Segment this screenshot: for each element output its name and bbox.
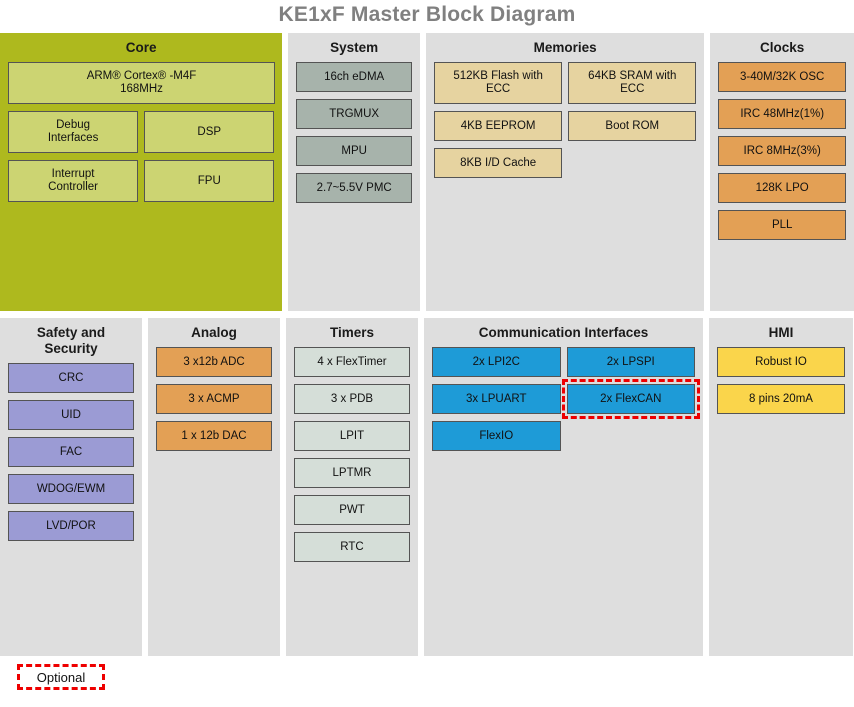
block-2x-flexcan[interactable]: 2x FlexCAN [567,384,696,414]
diagram-row-bottom: Safety and SecurityCRCUIDFACWDOG/EWMLVD/… [0,318,854,656]
panel-clocks: Clocks3-40M/32K OSCIRC 48MHz(1%)IRC 8MHz… [710,33,854,311]
panel-column: 3 x12b ADC3 x ACMP1 x 12b DAC [156,347,272,648]
panel-column: 3-40M/32K OSCIRC 48MHz(1%)IRC 8MHz(3%)12… [718,62,846,303]
diagram-row-top: CoreARM® Cortex® -M4F 168MHzDebug Interf… [0,33,854,311]
optional-block-wrapper: 2x FlexCAN [567,384,696,414]
block-arm-cortex-m4f-168mhz[interactable]: ARM® Cortex® -M4F 168MHz [8,62,275,104]
block-pwt[interactable]: PWT [294,495,410,525]
panel-title-timers: Timers [286,318,418,347]
block-irc-8mhz-3[interactable]: IRC 8MHz(3%) [718,136,846,166]
block-64kb-sram-with-ecc[interactable]: 64KB SRAM with ECC [568,62,696,104]
block-3x-lpuart[interactable]: 3x LPUART [432,384,561,414]
panel-body-memories: 512KB Flash with ECC4KB EEPROM8KB I/D Ca… [426,62,704,311]
panel-column: 2x LPI2C3x LPUARTFlexIO [432,347,561,648]
block-dsp[interactable]: DSP [144,111,274,153]
block-4kb-eeprom[interactable]: 4KB EEPROM [434,111,562,141]
panel-analog: Analog3 x12b ADC3 x ACMP1 x 12b DAC [148,318,280,656]
panel-body-system: 16ch eDMATRGMUXMPU2.7~5.5V PMC [288,62,420,311]
panel-body-communication-interfaces: 2x LPI2C3x LPUARTFlexIO2x LPSPI2x FlexCA… [424,347,703,656]
panel-body-core: Debug InterfacesInterrupt ControllerDSPF… [0,111,282,311]
block-uid[interactable]: UID [8,400,134,430]
panel-title-clocks: Clocks [710,33,854,62]
block-8-pins-20ma[interactable]: 8 pins 20mA [717,384,845,414]
panel-memories: Memories512KB Flash with ECC4KB EEPROM8K… [426,33,704,311]
panel-safety-and-security: Safety and SecurityCRCUIDFACWDOG/EWMLVD/… [0,318,142,656]
block-1-x-12b-dac[interactable]: 1 x 12b DAC [156,421,272,451]
panel-communication-interfaces: Communication Interfaces2x LPI2C3x LPUAR… [424,318,703,656]
panel-body-timers: 4 x FlexTimer3 x PDBLPITLPTMRPWTRTC [286,347,418,656]
block-boot-rom[interactable]: Boot ROM [568,111,696,141]
block-4-x-flextimer[interactable]: 4 x FlexTimer [294,347,410,377]
panel-column: 16ch eDMATRGMUXMPU2.7~5.5V PMC [296,62,412,303]
legend-optional: Optional [17,664,105,690]
panel-column: 512KB Flash with ECC4KB EEPROM8KB I/D Ca… [434,62,562,303]
panel-body-clocks: 3-40M/32K OSCIRC 48MHz(1%)IRC 8MHz(3%)12… [710,62,854,311]
block-fac[interactable]: FAC [8,437,134,467]
panel-column: CRCUIDFACWDOG/EWMLVD/POR [8,363,134,648]
panel-column: DSPFPU [144,111,274,303]
block-crc[interactable]: CRC [8,363,134,393]
panel-title-hmi: HMI [709,318,853,347]
block-span-holder: ARM® Cortex® -M4F 168MHz [0,62,282,104]
panel-core: CoreARM® Cortex® -M4F 168MHzDebug Interf… [0,33,282,311]
block-pll[interactable]: PLL [718,210,846,240]
panel-title-system: System [288,33,420,62]
panel-hmi: HMIRobust IO8 pins 20mA [709,318,853,656]
block-fpu[interactable]: FPU [144,160,274,202]
panel-column: Robust IO8 pins 20mA [717,347,845,648]
block-2x-lpspi[interactable]: 2x LPSPI [567,347,696,377]
panel-body-hmi: Robust IO8 pins 20mA [709,347,853,656]
legend-label: Optional [37,670,85,685]
block-flexio[interactable]: FlexIO [432,421,561,451]
page-title: KE1xF Master Block Diagram [0,0,854,30]
panel-timers: Timers4 x FlexTimer3 x PDBLPITLPTMRPWTRT… [286,318,418,656]
panel-column: 2x LPSPI2x FlexCAN [567,347,696,648]
panel-body-safety-and-security: CRCUIDFACWDOG/EWMLVD/POR [0,363,142,656]
block-2-7-5-5v-pmc[interactable]: 2.7~5.5V PMC [296,173,412,203]
block-3-40m-32k-osc[interactable]: 3-40M/32K OSC [718,62,846,92]
block-16ch-edma[interactable]: 16ch eDMA [296,62,412,92]
block-debug-interfaces[interactable]: Debug Interfaces [8,111,138,153]
block-512kb-flash-with-ecc[interactable]: 512KB Flash with ECC [434,62,562,104]
panel-body-analog: 3 x12b ADC3 x ACMP1 x 12b DAC [148,347,280,656]
block-wdog-ewm[interactable]: WDOG/EWM [8,474,134,504]
panel-system: System16ch eDMATRGMUXMPU2.7~5.5V PMC [288,33,420,311]
block-trgmux[interactable]: TRGMUX [296,99,412,129]
panel-title-safety-and-security: Safety and Security [0,318,142,363]
panel-column: 4 x FlexTimer3 x PDBLPITLPTMRPWTRTC [294,347,410,648]
panel-title-analog: Analog [148,318,280,347]
block-lvd-por[interactable]: LVD/POR [8,511,134,541]
block-128k-lpo[interactable]: 128K LPO [718,173,846,203]
block-robust-io[interactable]: Robust IO [717,347,845,377]
panel-title-communication-interfaces: Communication Interfaces [424,318,703,347]
block-rtc[interactable]: RTC [294,532,410,562]
block-3-x12b-adc[interactable]: 3 x12b ADC [156,347,272,377]
block-interrupt-controller[interactable]: Interrupt Controller [8,160,138,202]
block-mpu[interactable]: MPU [296,136,412,166]
panel-column: Debug InterfacesInterrupt Controller [8,111,138,303]
block-irc-48mhz-1[interactable]: IRC 48MHz(1%) [718,99,846,129]
block-2x-lpi2c[interactable]: 2x LPI2C [432,347,561,377]
panel-column: 64KB SRAM with ECCBoot ROM [568,62,696,303]
block-3-x-acmp[interactable]: 3 x ACMP [156,384,272,414]
block-8kb-i-d-cache[interactable]: 8KB I/D Cache [434,148,562,178]
block-lptmr[interactable]: LPTMR [294,458,410,488]
panel-title-memories: Memories [426,33,704,62]
block-3-x-pdb[interactable]: 3 x PDB [294,384,410,414]
block-lpit[interactable]: LPIT [294,421,410,451]
panel-title-core: Core [0,33,282,62]
